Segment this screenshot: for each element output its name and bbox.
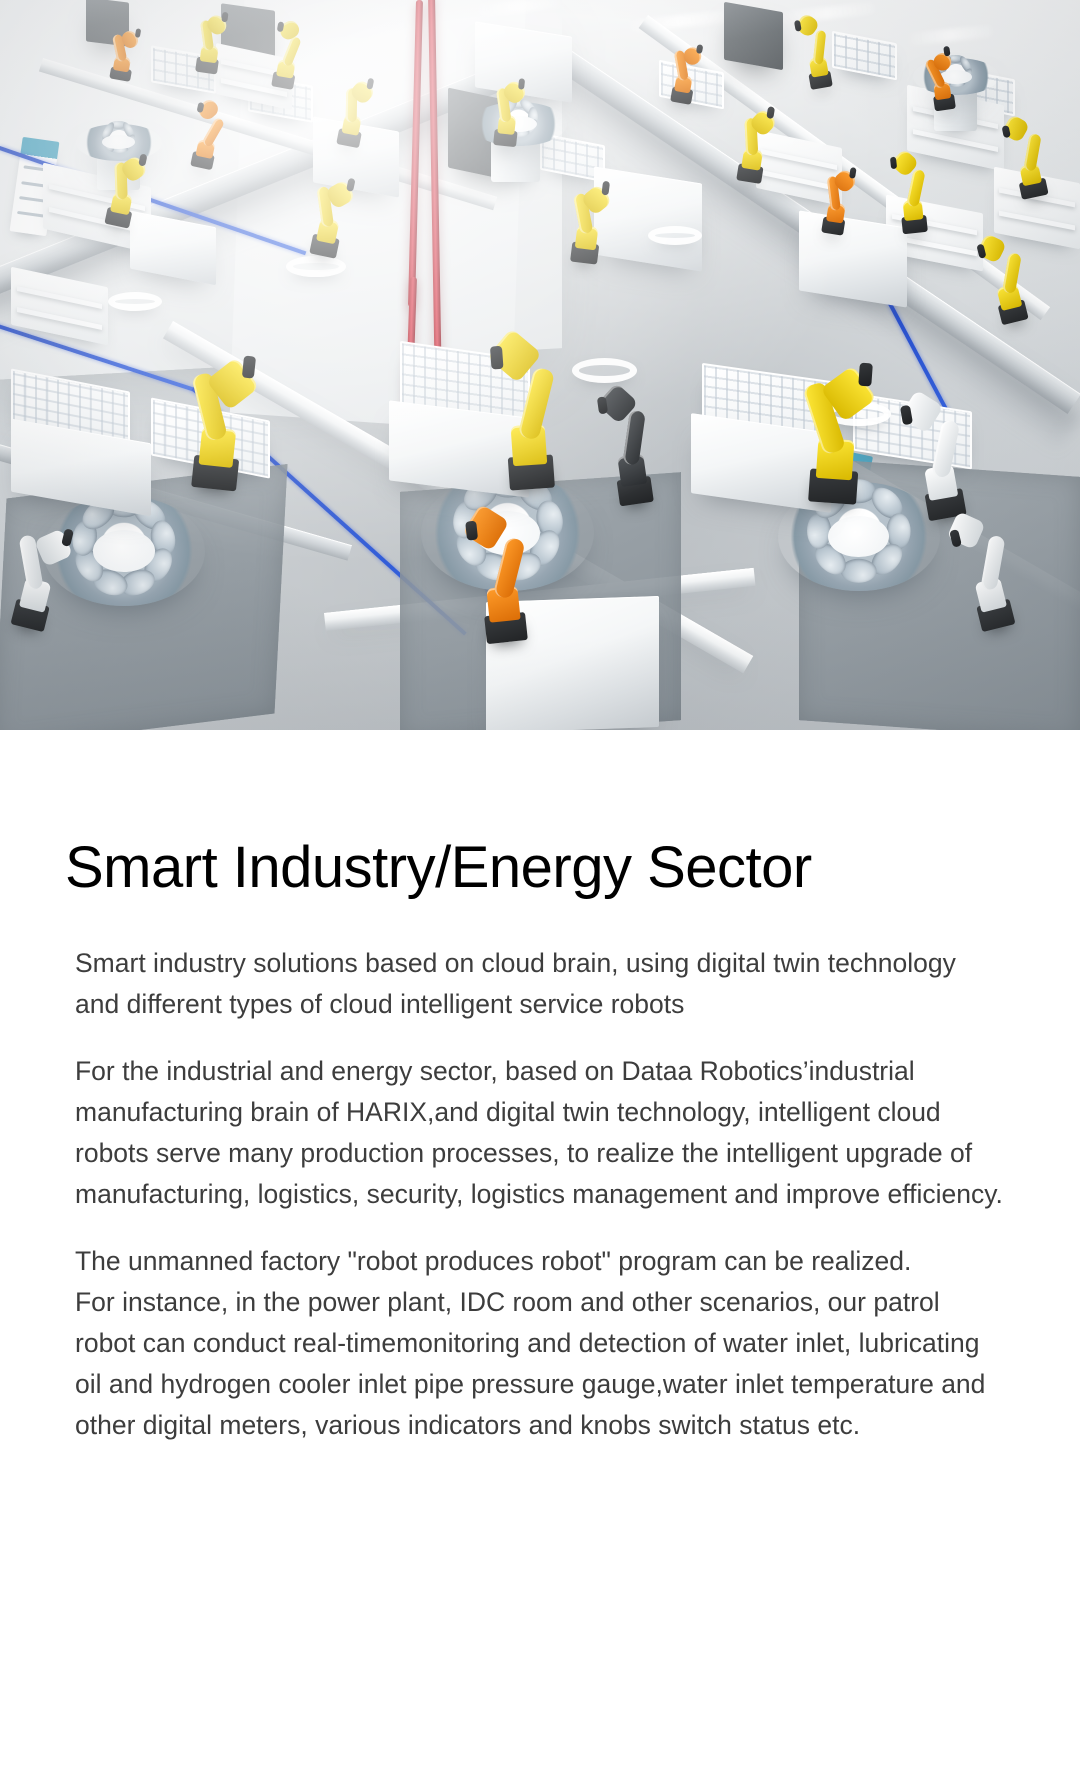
article-content: Smart Industry/Energy Sector Smart indus… [0,838,1080,1446]
machine-cabinet [724,2,783,71]
article-paragraph-2: The unmanned factory "robot produces rob… [75,1241,1005,1282]
page-root: Smart Industry/Energy Sector Smart indus… [0,0,1080,1785]
turntable-hub [93,530,155,572]
robot-wrist [221,12,228,23]
robot-arm [486,334,567,492]
article-lead: Smart industry solutions based on cloud … [75,943,1005,1025]
station-ring-marking [572,358,637,383]
factory-scene-render [0,0,1080,730]
hero-image [0,0,1080,730]
article-body: Smart industry solutions based on cloud … [75,943,1005,1446]
article-paragraph-1: For the industrial and energy sector, ba… [75,1051,1005,1215]
robot-arm [486,71,530,147]
station-ring-marking [108,292,162,311]
article-paragraph-3: For instance, in the power plant, IDC ro… [75,1282,1005,1446]
robot-arm [462,508,540,645]
robot-arm [794,348,880,506]
page-title: Smart Industry/Energy Sector [65,838,1005,899]
